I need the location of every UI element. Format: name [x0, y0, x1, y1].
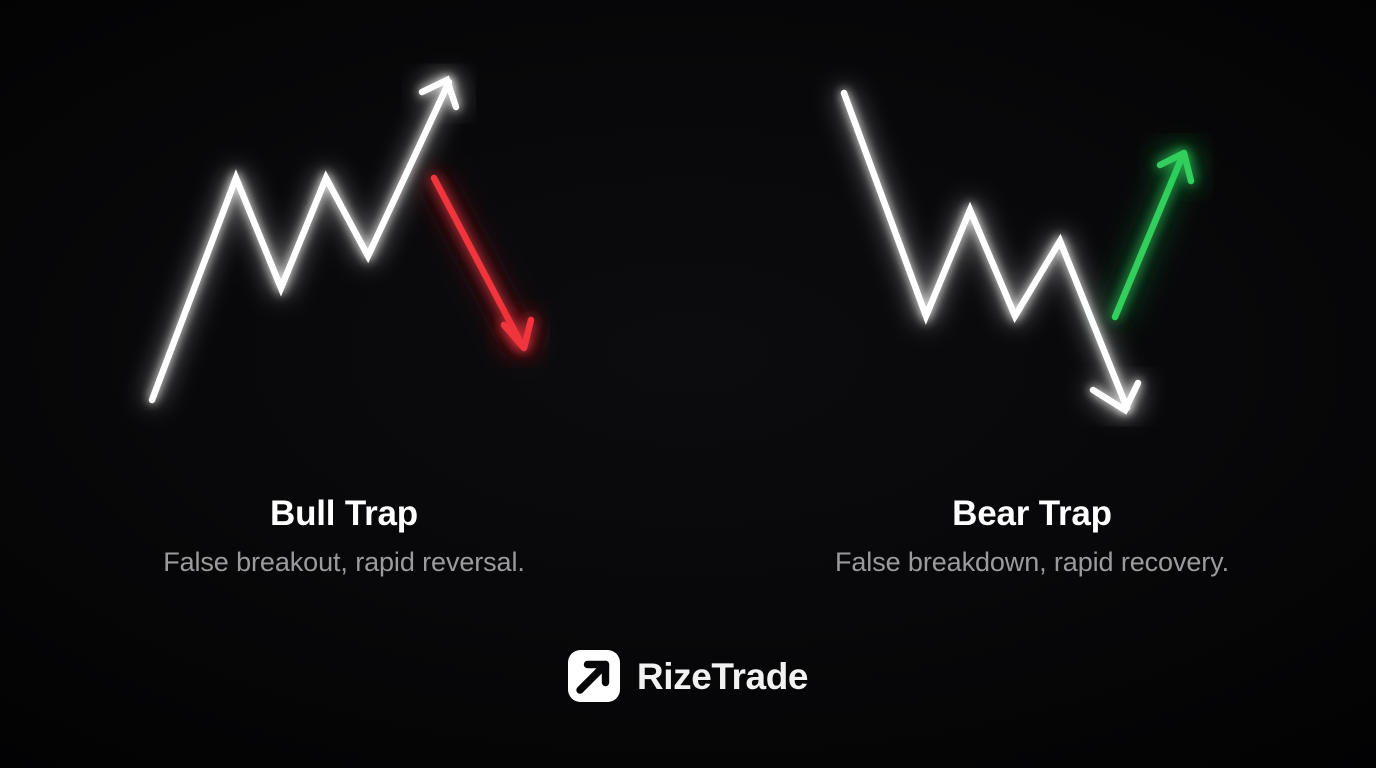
slide-canvas: Bull Trap False breakout, rapid reversal…: [0, 0, 1376, 768]
bear-trap-chart: [688, 60, 1376, 480]
bull-trap-svg: [0, 60, 688, 480]
brand-name: RizeTrade: [637, 658, 808, 695]
bull-trap-caption: Bull Trap False breakout, rapid reversal…: [0, 492, 688, 580]
bear-trap-caption: Bear Trap False breakdown, rapid recover…: [688, 492, 1376, 580]
bear-price-path: [844, 93, 1127, 408]
bull-trap-title: Bull Trap: [0, 492, 688, 536]
bull-trap-subtitle: False breakout, rapid reversal.: [0, 544, 688, 580]
brand-lockup: RizeTrade: [0, 650, 1376, 702]
bear-trap-svg: [688, 60, 1376, 480]
bull-price-path: [152, 82, 449, 400]
bull-trap-chart: [0, 60, 688, 480]
bear-trap-subtitle: False breakdown, rapid recovery.: [688, 544, 1376, 580]
arrow-up-right-icon: [568, 650, 620, 702]
bear-recovery-arrow-shaft: [1115, 157, 1182, 317]
bull-reversal-arrow-shaft: [434, 178, 522, 345]
bear-trap-title: Bear Trap: [688, 492, 1376, 536]
